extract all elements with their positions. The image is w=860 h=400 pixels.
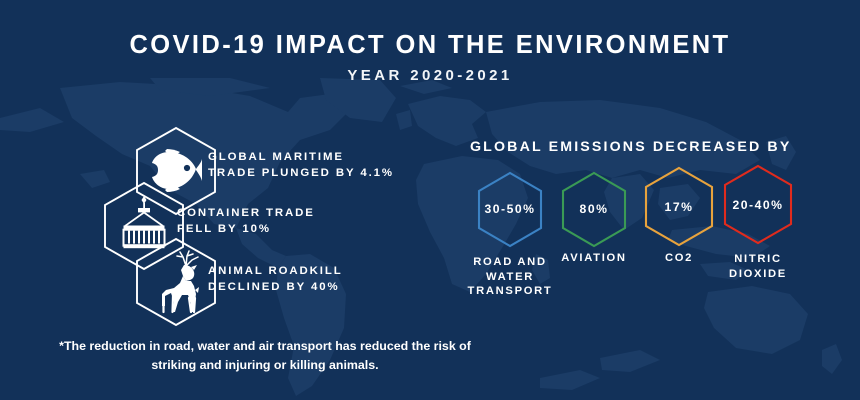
infographic-canvas: COVID-19 IMPACT ON THE ENVIRONMENT YEAR … <box>0 0 860 400</box>
emission-item-nitric-dioxide: 20-40% NITRIC DIOXIDE <box>722 164 794 246</box>
label-line-1: NITRIC <box>710 252 806 267</box>
label-line-1: ROAD AND <box>462 255 558 270</box>
emission-value-co2: 17% <box>643 200 715 214</box>
footnote: *The reduction in road, water and air tr… <box>30 337 500 375</box>
emission-label-road-water: ROAD AND WATER TRANSPORT <box>462 255 558 299</box>
label-line-2: DIOXIDE <box>710 267 806 282</box>
label-line-1: AVIATION <box>546 251 642 266</box>
label-line-3: TRANSPORT <box>462 284 558 299</box>
emission-item-road-water-transport: 30-50% ROAD AND WATER TRANSPORT <box>476 171 544 249</box>
emission-label-nitric-dioxide: NITRIC DIOXIDE <box>710 252 806 281</box>
emission-value-nitric-dioxide: 20-40% <box>722 198 794 212</box>
footnote-line-1: *The reduction in road, water and air tr… <box>30 337 500 356</box>
emission-value-road-water: 30-50% <box>476 202 544 216</box>
emissions-heading: GLOBAL EMISSIONS DECREASED BY <box>470 139 791 155</box>
emission-item-co2: 17% CO2 <box>643 166 715 248</box>
emission-label-aviation: AVIATION <box>546 251 642 266</box>
emission-value-aviation: 80% <box>560 202 628 216</box>
emission-item-aviation: 80% AVIATION <box>560 171 628 249</box>
label-line-2: WATER <box>462 270 558 285</box>
footnote-line-2: striking and injuring or killing animals… <box>30 356 500 375</box>
